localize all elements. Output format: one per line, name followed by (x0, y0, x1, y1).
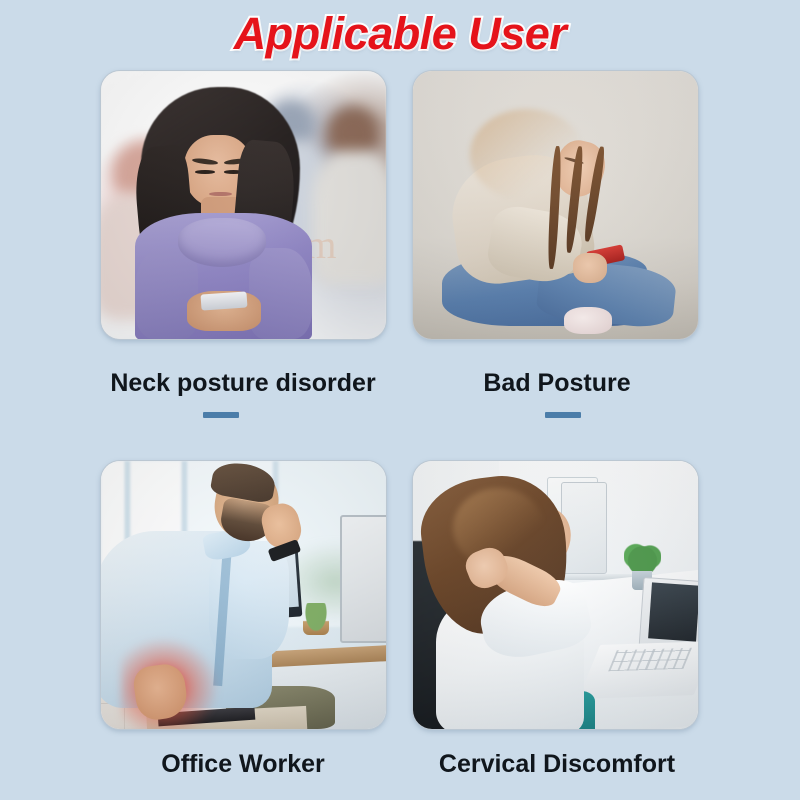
photo2-hand (573, 253, 607, 282)
caption-rule-2 (545, 412, 581, 418)
card-grid: om (100, 70, 690, 790)
photo-cervical-discomfort (413, 461, 698, 729)
photo3-monitor (340, 515, 386, 644)
photo4-laptop-keyboard (608, 647, 692, 671)
page-title: Applicable User (0, 6, 800, 62)
photo1-arm-right (249, 248, 312, 339)
card-cervical-discomfort[interactable] (412, 460, 699, 730)
card-neck-posture-disorder[interactable]: om (100, 70, 387, 340)
photo1-cowl-neckline (178, 218, 266, 266)
photo-office-worker (101, 461, 386, 729)
photo-bad-posture (413, 71, 698, 339)
applicable-user-infographic: { "page": { "title": "Applicable User", … (0, 0, 800, 800)
photo1-arm-left (135, 248, 198, 339)
card-office-worker[interactable] (100, 460, 387, 730)
caption-cervical-discomfort: Cervical Discomfort (392, 749, 722, 779)
photo2-sock (564, 307, 612, 334)
photo3-desk-plant (303, 603, 329, 635)
caption-neck-posture-disorder: Neck posture disorder (78, 368, 408, 398)
caption-bad-posture: Bad Posture (392, 368, 722, 398)
photo2-hair-highlight (470, 109, 584, 200)
photo1-eye-left (195, 170, 215, 174)
card-bad-posture[interactable] (412, 70, 699, 340)
caption-rule-1 (203, 412, 239, 418)
photo-neck-posture-disorder: om (101, 71, 386, 339)
photo4-laptop-screen (648, 583, 698, 643)
caption-office-worker: Office Worker (78, 749, 408, 779)
